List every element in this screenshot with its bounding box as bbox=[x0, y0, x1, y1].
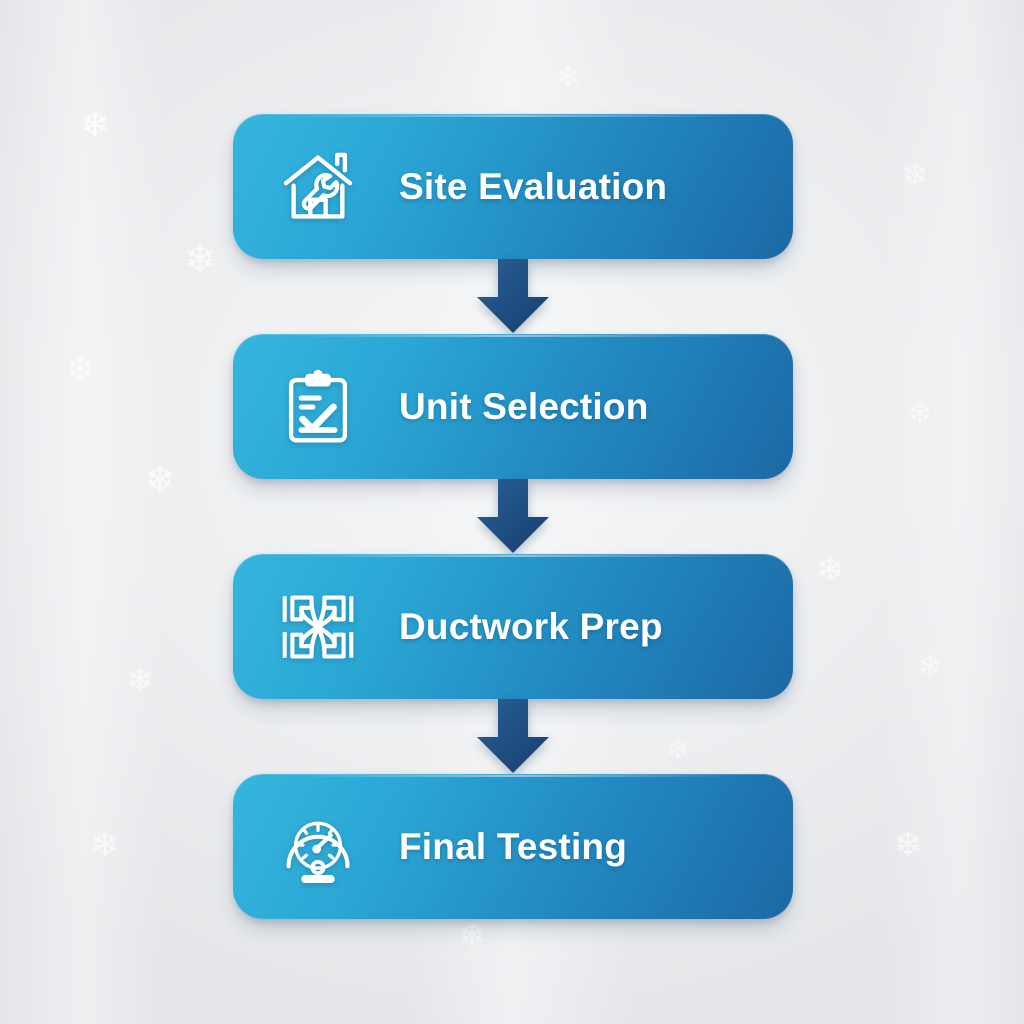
snowflake-icon: ❄ bbox=[553, 63, 583, 93]
flow-step-label: Unit Selection bbox=[399, 386, 649, 428]
connector-3 bbox=[233, 699, 793, 774]
flow-step-final-testing[interactable]: Final Testing bbox=[233, 774, 793, 919]
snowflake-icon: ❄ bbox=[813, 553, 847, 587]
snowflake-icon: ❄ bbox=[899, 159, 931, 191]
process-flow-column: Site Evaluation bbox=[233, 114, 793, 919]
crossing-ducts-icon bbox=[275, 584, 361, 670]
down-arrow-icon bbox=[475, 479, 551, 554]
flow-step-unit-selection[interactable]: Unit Selection bbox=[233, 334, 793, 479]
flow-step-site-evaluation[interactable]: Site Evaluation bbox=[233, 114, 793, 259]
house-wrench-icon bbox=[275, 144, 361, 230]
clipboard-check-icon bbox=[275, 364, 361, 450]
snowflake-icon: ❄ bbox=[181, 241, 219, 279]
snowflake-icon: ❄ bbox=[905, 400, 935, 430]
snowflake-icon: ❄ bbox=[63, 353, 97, 387]
flow-step-ductwork-prep[interactable]: Ductwork Prep bbox=[233, 554, 793, 699]
snowflake-icon: ❄ bbox=[891, 828, 925, 862]
snowflake-icon: ❄ bbox=[124, 664, 156, 696]
gauge-meter-icon bbox=[275, 804, 361, 890]
flow-step-label: Site Evaluation bbox=[399, 166, 667, 208]
flow-step-label: Ductwork Prep bbox=[399, 606, 663, 648]
connector-1 bbox=[233, 259, 793, 334]
snowflake-icon: ❄ bbox=[915, 653, 945, 683]
flow-step-label: Final Testing bbox=[399, 826, 627, 868]
snowflake-icon: ❄ bbox=[456, 919, 488, 951]
snowflake-icon: ❄ bbox=[88, 828, 122, 862]
connector-2 bbox=[233, 479, 793, 554]
snowflake-icon: ❄ bbox=[78, 108, 112, 142]
down-arrow-icon bbox=[475, 259, 551, 334]
flowchart-canvas: ❄❄❄❄❄❄❄❄❄❄❄❄❄❄❄ Site Evaluation bbox=[0, 0, 1024, 1024]
down-arrow-icon bbox=[475, 699, 551, 774]
snowflake-icon: ❄ bbox=[142, 462, 178, 498]
